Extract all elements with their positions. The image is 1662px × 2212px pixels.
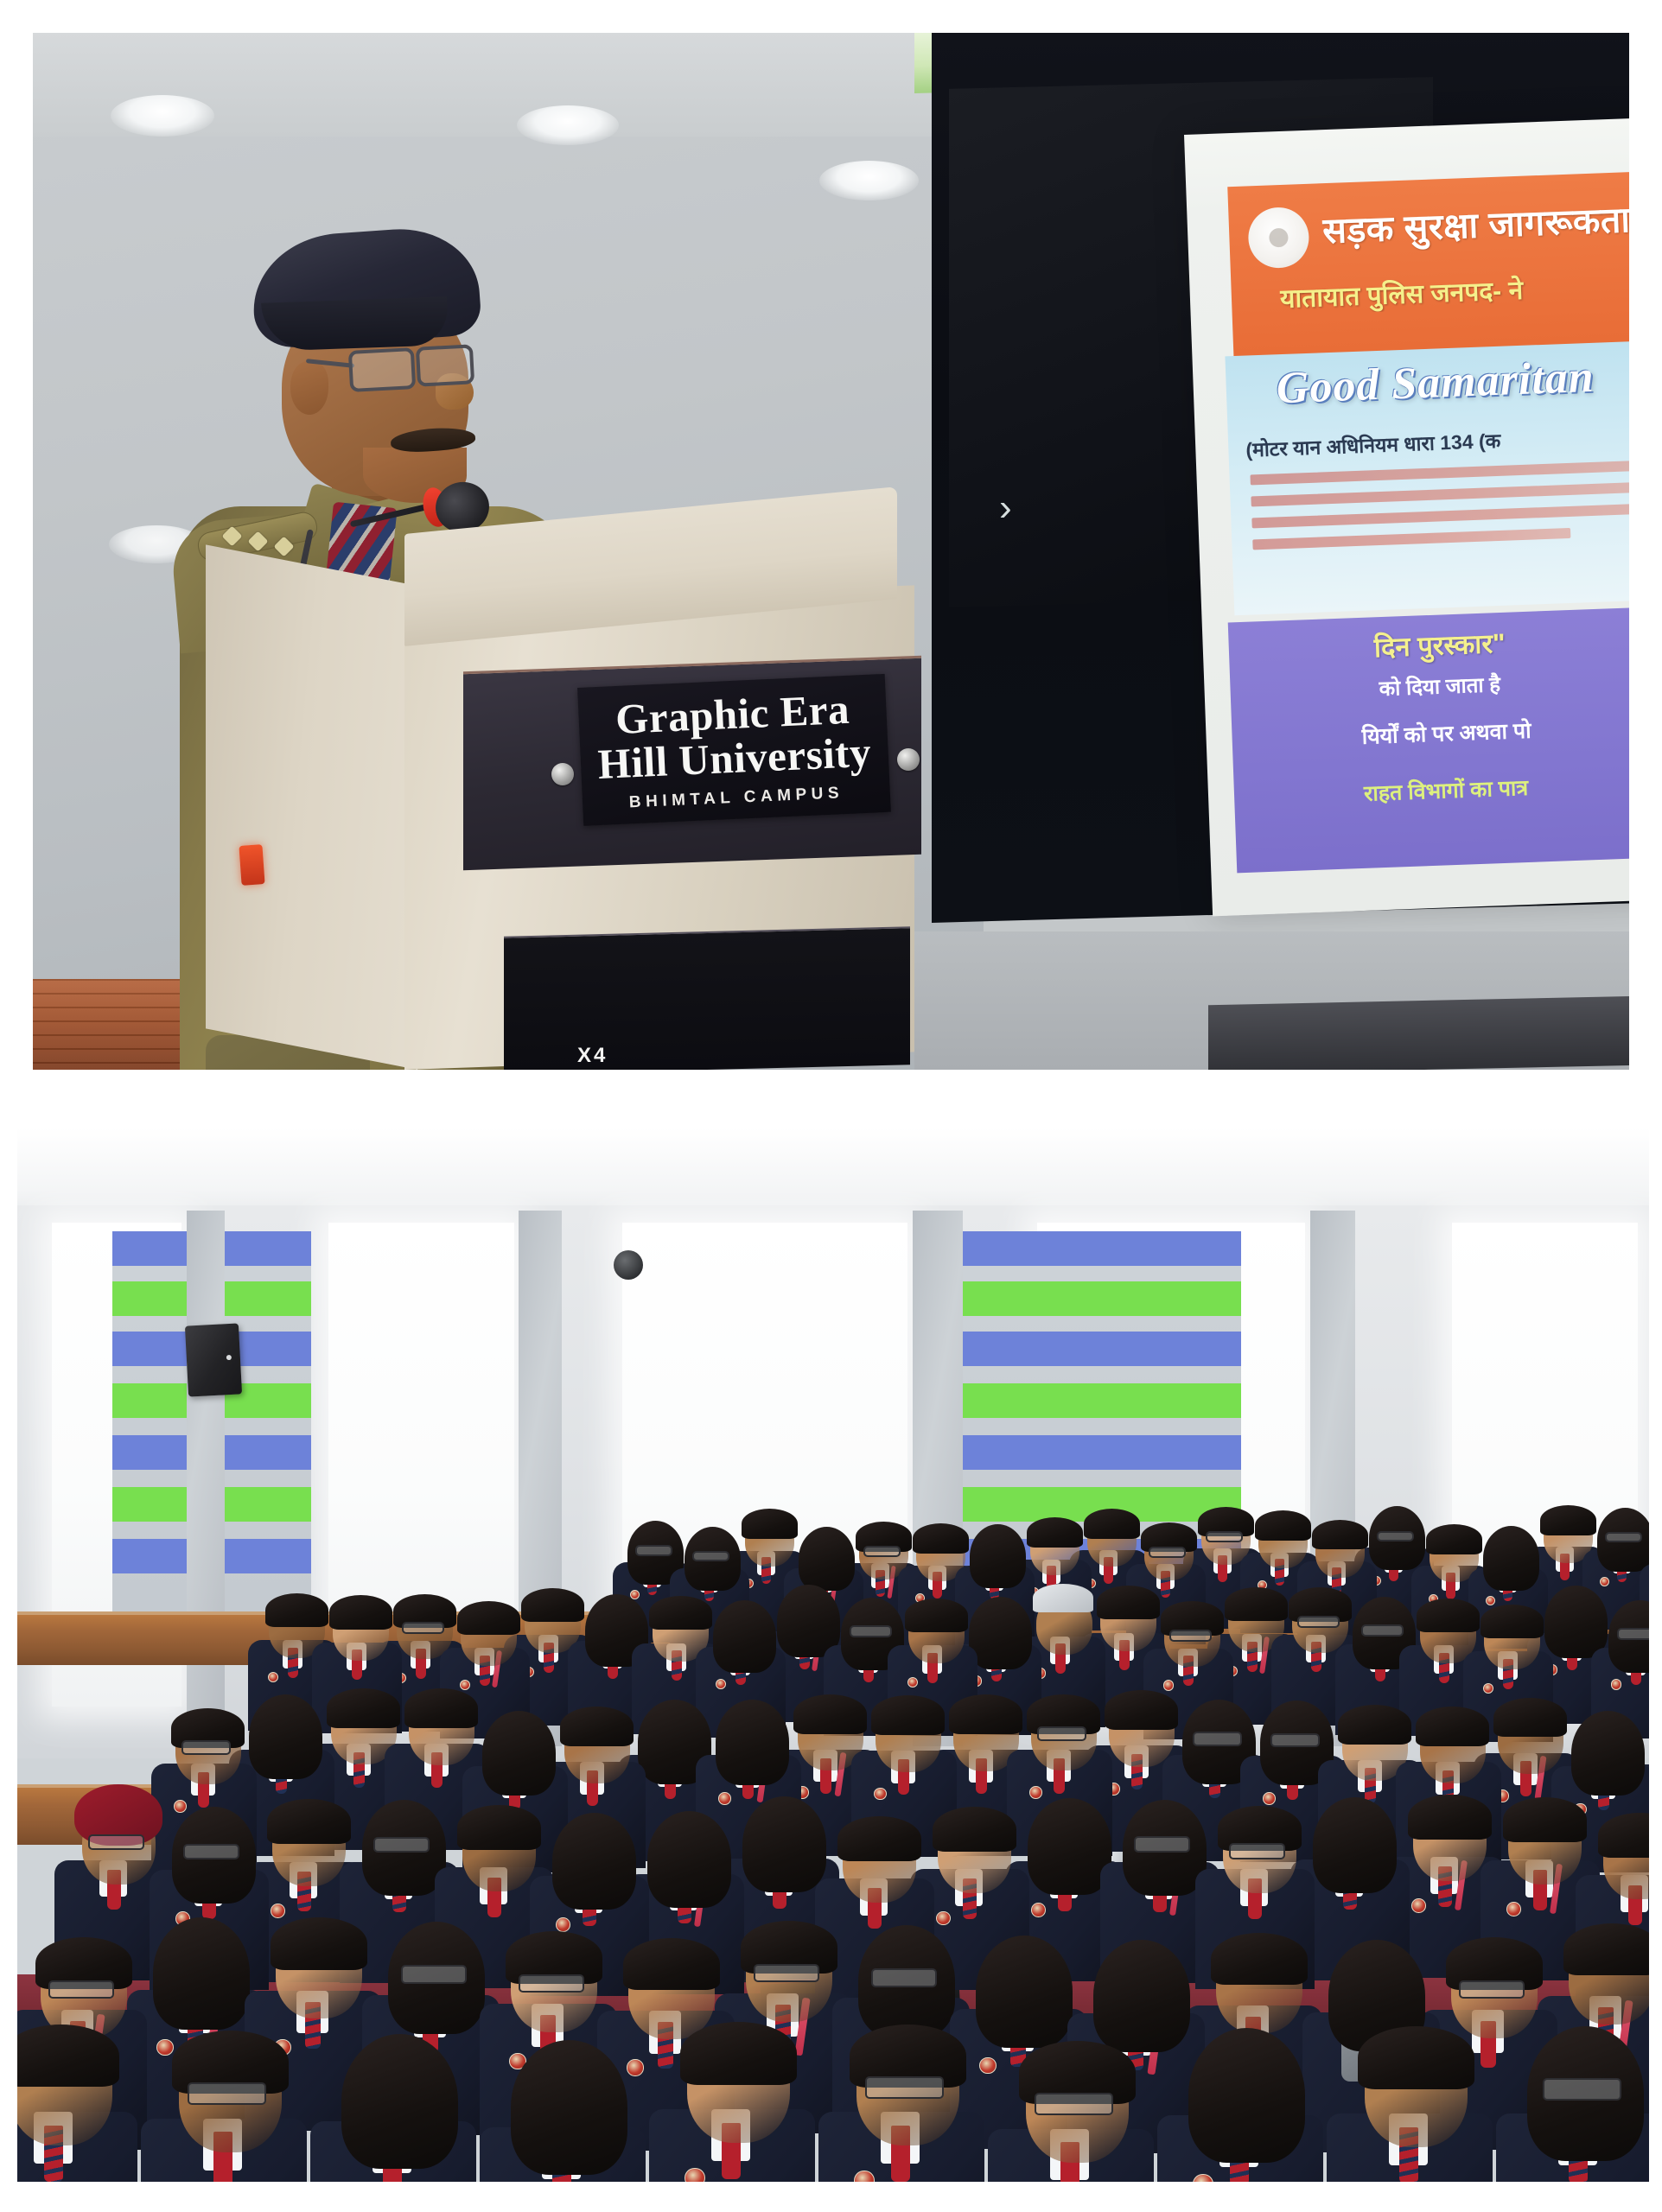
slide-title-good-samaritan: Good Samaritan	[1276, 352, 1595, 414]
glasses-icon	[1459, 1980, 1525, 1999]
photo-student-audience	[17, 1128, 1649, 2182]
blazer-crest-badge	[1411, 1898, 1426, 1913]
student-hair	[1426, 1524, 1481, 1554]
collage-margin-bottom	[0, 2182, 1662, 2212]
student-hair	[249, 1694, 322, 1779]
student-hair	[949, 1694, 1022, 1734]
student-hair	[153, 1917, 250, 2030]
screw-icon	[551, 763, 574, 785]
student-hair	[933, 1807, 1016, 1852]
student-hair	[1338, 1705, 1411, 1745]
student-hair	[1027, 1517, 1082, 1548]
student-hair	[1225, 1587, 1288, 1621]
student-hair	[969, 1597, 1032, 1669]
glasses-icon	[188, 2082, 266, 2105]
glasses-icon	[402, 1622, 444, 1634]
wall-speaker-icon	[185, 1323, 242, 1396]
student-hair	[17, 2024, 119, 2088]
glasses-icon	[373, 1837, 430, 1853]
cap	[1033, 1584, 1093, 1611]
audience-member	[500, 2029, 623, 2182]
student-hair	[837, 1816, 921, 1861]
student-hair	[1598, 1813, 1649, 1858]
glasses-icon	[1543, 2078, 1621, 2101]
student-hair	[1312, 1520, 1367, 1550]
floor-shadow	[1208, 996, 1629, 1070]
student-hair	[1481, 1605, 1544, 1638]
collage-margin-right-upper	[1629, 0, 1662, 1071]
slide-award-line-3: यिर्यों को पर अथवा पो	[1361, 715, 1531, 751]
glasses-icon	[1377, 1531, 1414, 1541]
student-hair	[1416, 1707, 1489, 1746]
audience-member	[17, 2013, 115, 2182]
audience-member	[838, 2013, 962, 2182]
glasses-icon	[401, 1965, 467, 1984]
student-hair	[1540, 1505, 1595, 1535]
glasses-icon	[1229, 1843, 1285, 1859]
glasses-icon	[1193, 1732, 1242, 1745]
student-hair	[511, 2040, 627, 2175]
blazer-crest-badge	[979, 2057, 996, 2074]
student-hair	[457, 1805, 541, 1850]
student-hair	[1571, 1711, 1645, 1796]
student-hair	[913, 1523, 968, 1554]
collage-margin-top	[0, 0, 1662, 33]
glasses-icon	[416, 344, 474, 386]
blazer-crest-badge	[627, 2059, 643, 2075]
student-hair	[404, 1688, 478, 1728]
glasses-icon	[1361, 1624, 1404, 1637]
student-hair	[871, 1695, 945, 1735]
student-hair	[1503, 1797, 1587, 1842]
glasses-icon	[1617, 1628, 1649, 1640]
student-hair	[647, 1811, 731, 1908]
slide-orange-band: सड़क सुरक्षा जागरूकता अ यातायात पुलिस जन…	[1227, 169, 1629, 364]
student-hair	[1097, 1586, 1160, 1619]
glasses-icon	[635, 1545, 672, 1555]
student-hair	[329, 1595, 392, 1629]
podium-lower-panel	[504, 926, 910, 1070]
glasses-icon	[754, 1964, 819, 1983]
student-hair	[265, 1593, 328, 1627]
collage-margin-left-upper	[0, 0, 33, 1071]
glasses-icon	[1605, 1532, 1642, 1542]
podium-indicator-light	[239, 844, 264, 886]
glasses-icon	[1035, 2093, 1113, 2115]
slide-subline-hindi: (मोटर यान अधिनियम धारा 134 (क	[1245, 418, 1629, 462]
student-hair	[970, 1524, 1025, 1588]
projected-slide: सड़क सुरक्षा जागरूकता अ यातायात पुलिस जन…	[1184, 118, 1629, 917]
glasses-icon	[1297, 1616, 1340, 1628]
student-hair	[1313, 1797, 1397, 1894]
student-hair	[271, 1917, 367, 1969]
student-hair	[1255, 1510, 1310, 1541]
student-hair	[1028, 1798, 1111, 1895]
glasses-icon	[48, 1980, 114, 1999]
ceiling-downlight-icon	[819, 161, 919, 200]
student-hair	[1493, 1698, 1567, 1738]
student-hair	[327, 1688, 400, 1728]
student-hair	[1483, 1526, 1538, 1590]
glasses-icon	[519, 1974, 584, 1993]
security-camera-icon	[614, 1250, 643, 1280]
slide-award-line-2: को दिया जाता है	[1379, 670, 1501, 702]
glasses-icon	[181, 1740, 231, 1754]
student-hair	[649, 1596, 712, 1630]
chevron-right-icon: ›	[999, 489, 1022, 531]
blazer-crest-badge	[1611, 1679, 1622, 1690]
student-hair	[742, 1509, 797, 1539]
audience-member	[1177, 2017, 1301, 2182]
nameplate-line-3: BHIMTAL CAMPUS	[628, 784, 844, 812]
audience-member	[1008, 2030, 1131, 2182]
student-hair	[267, 1799, 351, 1844]
audience-member	[161, 2019, 284, 2182]
blazer-crest-badge	[1506, 1902, 1521, 1916]
student-hair	[560, 1707, 634, 1746]
glasses-icon	[871, 1968, 937, 1987]
student-hair	[521, 1588, 584, 1622]
photo-officer-at-podium: › सड़क सुरक्षा जागरूकता अ यातायात पुलिस …	[33, 33, 1629, 1070]
student-hair	[905, 1599, 968, 1632]
slide-award-line-1: दिन पुरस्कार"	[1373, 625, 1506, 666]
student-hair	[713, 1600, 776, 1673]
glasses-icon	[88, 1834, 144, 1851]
student-hair	[716, 1700, 789, 1784]
glasses-icon	[1149, 1547, 1186, 1557]
audience-member	[669, 2011, 793, 2182]
police-emblem-icon	[1247, 207, 1310, 270]
student-hair	[793, 1694, 867, 1734]
officer-ear	[290, 361, 328, 415]
student-hair	[341, 2034, 458, 2169]
blazer-crest-badge	[1031, 1903, 1046, 1917]
student-hair	[1084, 1509, 1139, 1539]
collage-divider	[0, 1070, 1662, 1128]
student-hair	[623, 1938, 720, 1990]
ceiling-downlight-icon	[111, 95, 214, 137]
podium-side-panel	[206, 544, 417, 1070]
photo-collage: › सड़क सुरक्षा जागरूकता अ यातायात पुलिस …	[0, 0, 1662, 2212]
ceiling-downlight-icon	[517, 105, 619, 145]
officer-beret	[249, 224, 482, 350]
student-hair	[680, 2022, 797, 2085]
slide-award-line-4: राहत विभागों का पात्र	[1363, 772, 1528, 808]
student-hair	[742, 1796, 826, 1893]
slide-purple-band: दिन पुरस्कार" को दिया जाता है यिर्यों को…	[1228, 605, 1629, 874]
podium-nameplate: Graphic Era Hill University BHIMTAL CAMP…	[577, 674, 891, 826]
student-hair	[552, 1813, 636, 1910]
glasses-icon	[183, 1844, 239, 1860]
slide-body-text-block	[1250, 458, 1629, 561]
student-hair	[1408, 1795, 1492, 1840]
podium-panel-label: X4	[577, 1044, 608, 1068]
glasses-icon	[1169, 1630, 1212, 1642]
student-hair	[1211, 1933, 1308, 1985]
screw-icon	[897, 748, 920, 771]
blazer-crest-badge	[685, 2168, 704, 2182]
audience-member	[330, 2023, 454, 2182]
student-hair	[457, 1601, 520, 1635]
student-hair	[1105, 1690, 1178, 1730]
student-hair	[1544, 1586, 1608, 1658]
student-hair	[1358, 2026, 1474, 2089]
student-hair	[1188, 2028, 1305, 2163]
slide-heading-hindi: सड़क सुरक्षा जागरूकता अ	[1321, 192, 1629, 254]
audience-member	[1347, 2015, 1470, 2182]
student-hair	[1563, 1923, 1649, 1975]
nameplate-line-2: Hill University	[597, 729, 873, 786]
glasses-icon	[1037, 1726, 1086, 1740]
glasses-icon	[863, 1546, 901, 1556]
slide-blue-band: Good Samaritan (मोटर यान अधिनियम धारा 13…	[1225, 339, 1629, 615]
glasses-icon	[1270, 1733, 1320, 1747]
slide-subheading-hindi: यातायात पुलिस जनपद- ने	[1279, 264, 1629, 315]
glasses-icon	[1134, 1836, 1190, 1853]
glasses-icon	[692, 1551, 729, 1561]
audience-member	[1516, 2015, 1640, 2182]
glasses-icon	[1206, 1531, 1243, 1541]
glasses-icon	[348, 347, 416, 392]
wall-pillar	[187, 1211, 225, 1746]
student-hair	[482, 1711, 556, 1796]
glasses-icon	[865, 2076, 944, 2099]
student-hair	[1417, 1599, 1480, 1632]
glasses-icon	[850, 1625, 892, 1637]
